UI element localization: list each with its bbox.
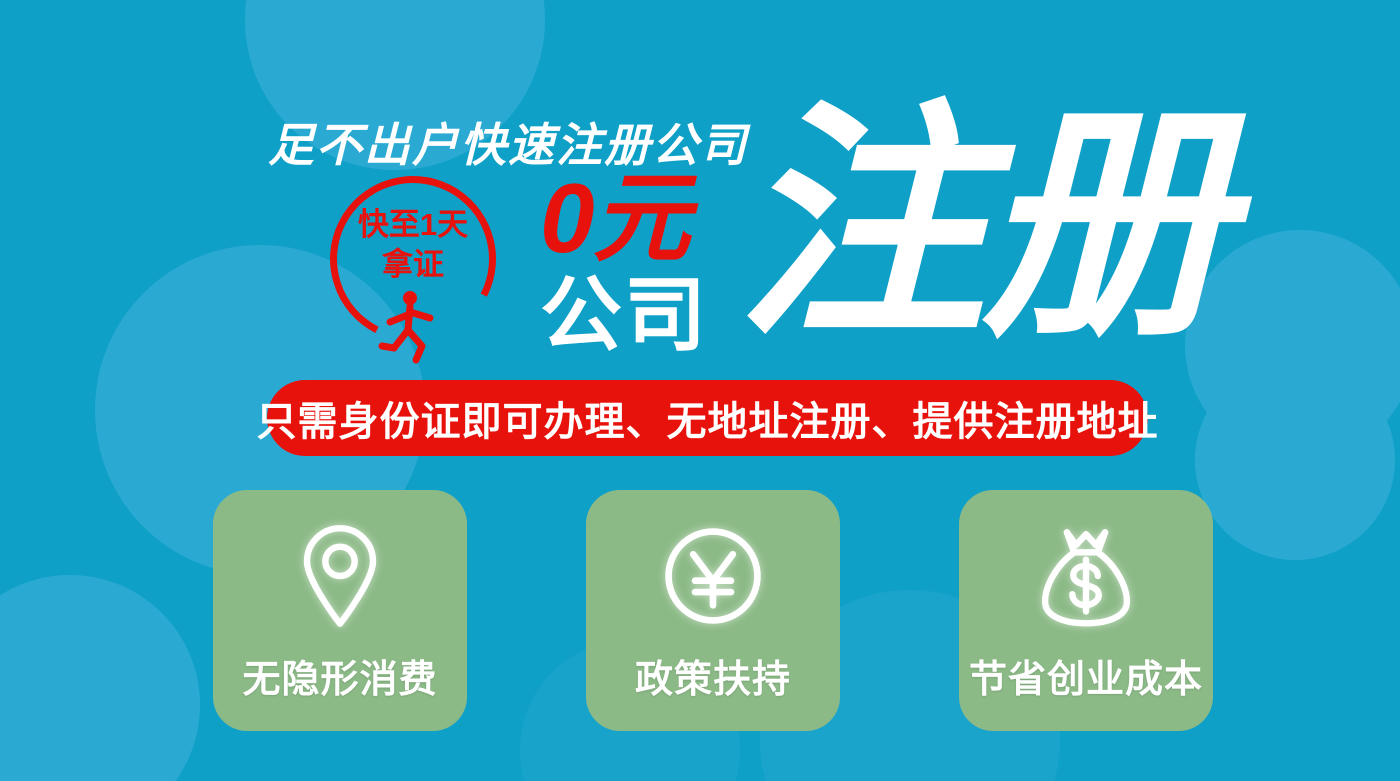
running-person-icon — [370, 288, 450, 368]
yen-coin-icon — [658, 516, 768, 636]
offer-banner-text: 只需身份证即可办理、无地址注册、提供注册地址 — [257, 389, 1159, 447]
background-circle-bottom-left — [0, 575, 200, 781]
feature-card-save-startup-cost[interactable]: 节省创业成本 — [959, 490, 1213, 731]
price-subject: 公司 — [540, 274, 730, 358]
feature-card-label: 无隐形消费 — [242, 648, 437, 703]
location-pin-icon — [285, 516, 395, 636]
offer-banner: 只需身份证即可办理、无地址注册、提供注册地址 — [267, 380, 1148, 456]
price-block: 0元 公司 — [540, 168, 730, 358]
feature-card-policy-support[interactable]: 政策扶持 — [586, 490, 840, 731]
promo-banner: 足不出户快速注册公司 注册 0元 公司 快至1天 拿证 只需身份证即可办理、无地… — [0, 0, 1400, 781]
price-amount: 0元 — [540, 168, 730, 268]
feature-card-no-hidden-fees[interactable]: 无隐形消费 — [213, 490, 467, 731]
money-bag-icon — [1031, 516, 1141, 636]
feature-card-list: 无隐形消费 政策扶持 — [213, 490, 1213, 731]
badge-line-1: 快至1天 — [330, 208, 496, 242]
hero-word: 注册 — [736, 100, 1224, 350]
feature-card-label: 政策扶持 — [635, 648, 791, 703]
feature-card-label: 节省创业成本 — [969, 648, 1203, 703]
badge-line-2: 拿证 — [330, 248, 496, 282]
background-circle-right-bottom — [1195, 360, 1395, 560]
